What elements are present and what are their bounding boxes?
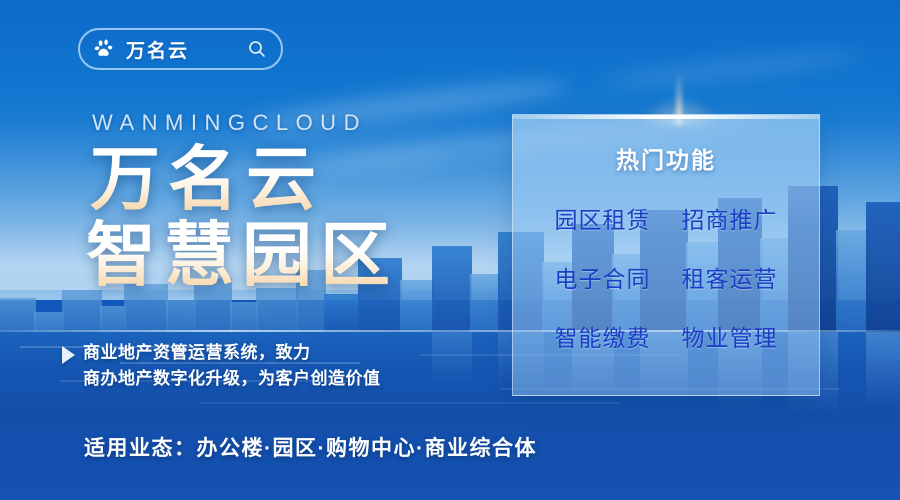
hero-title-line-1: 万名云 (90, 142, 506, 220)
brand-search-bar[interactable]: 万名云 (78, 28, 283, 70)
search-icon[interactable] (247, 39, 267, 59)
hot-features-panel: 热门功能 园区租赁 招商推广 电子合同 租客运营 智能缴费 物业管理 (512, 114, 820, 396)
feature-item[interactable]: 电子合同 (539, 260, 666, 294)
feature-item[interactable]: 物业管理 (666, 319, 793, 353)
feature-item[interactable]: 招商推广 (666, 201, 793, 235)
triangle-right-icon (62, 346, 75, 364)
subtitle-line-2: 商办地产数字化升级，为客户创造价值 (83, 366, 381, 392)
panel-title: 热门功能 (513, 141, 819, 175)
panel-top-highlight (513, 115, 819, 119)
feature-item[interactable]: 租客运营 (666, 260, 793, 294)
hero-subtitle-block: 商业地产资管运营系统，致力 商办地产数字化升级，为客户创造价值 (62, 340, 532, 392)
hero-title-line-2: 智慧园区 (86, 218, 506, 296)
subtitle-line-1: 商业地产资管运营系统，致力 (83, 340, 381, 366)
promotional-banner: 万名云 WANMINGCLOUD 万名云 智慧园区 商业地产资管运营系统，致力 … (0, 0, 900, 500)
tagline: 适用业态：办公楼·园区·购物中心·商业综合体 (84, 432, 537, 462)
english-subtitle: WANMINGCLOUD (92, 110, 506, 136)
feature-grid: 园区租赁 招商推广 电子合同 租客运营 智能缴费 物业管理 (513, 201, 819, 353)
hero-copy: WANMINGCLOUD 万名云 智慧园区 (86, 110, 506, 296)
brand-name: 万名云 (126, 36, 189, 63)
feature-item[interactable]: 园区租赁 (539, 201, 666, 235)
feature-item[interactable]: 智能缴费 (539, 319, 666, 353)
baidu-paw-icon (94, 38, 116, 60)
